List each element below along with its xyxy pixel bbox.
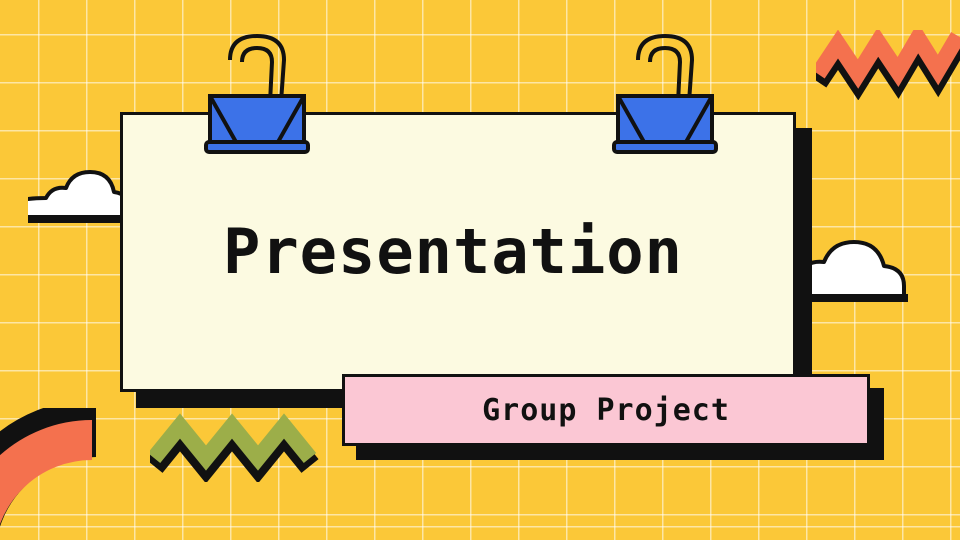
binder-clip-right-icon <box>600 32 730 162</box>
subtitle-text: Group Project <box>482 393 730 428</box>
slide-canvas: Presentation Group Project <box>0 0 960 540</box>
zigzag-orange-icon <box>816 30 960 100</box>
page-title: Presentation <box>223 221 683 283</box>
subtitle-bar: Group Project <box>342 374 870 446</box>
binder-clip-left-icon <box>192 32 322 162</box>
zigzag-olive-icon <box>150 412 320 482</box>
arc-orange-icon <box>0 408 121 540</box>
